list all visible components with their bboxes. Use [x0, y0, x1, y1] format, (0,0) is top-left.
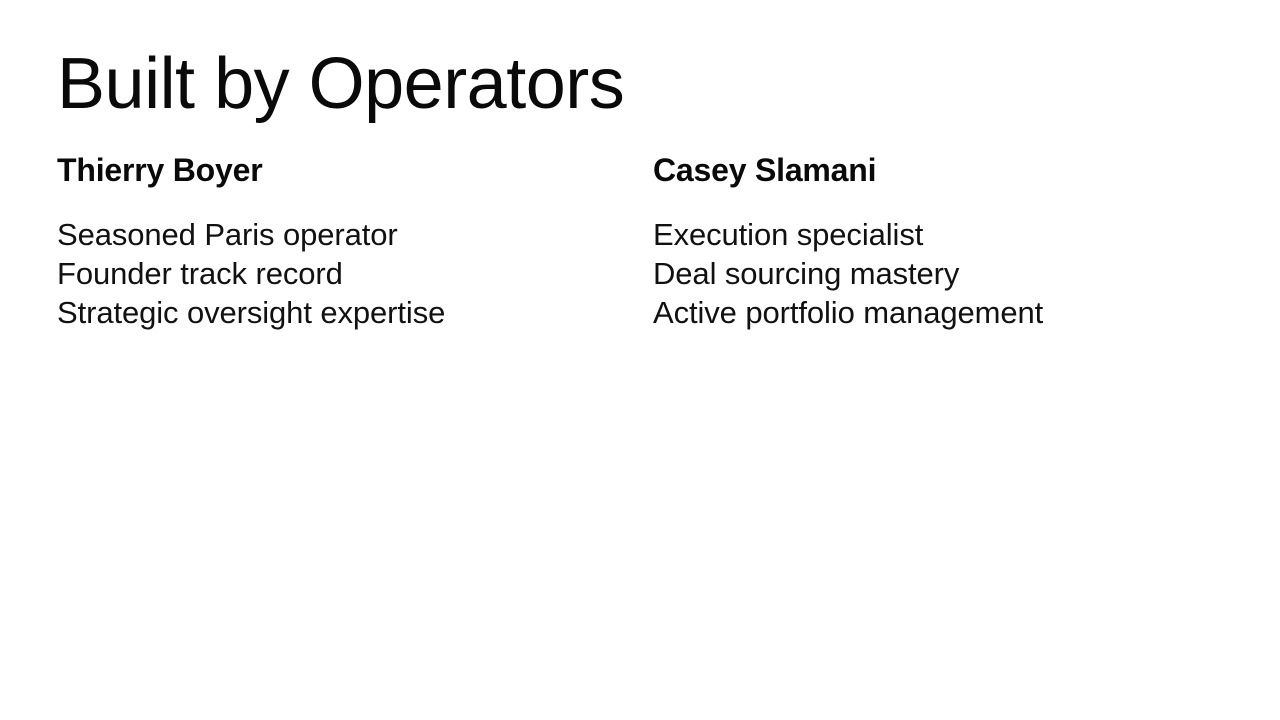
list-item: Strategic oversight expertise [57, 293, 653, 332]
person-name-heading: Casey Slamani [653, 152, 1249, 189]
list-item: Execution specialist [653, 215, 1249, 254]
list-item: Deal sourcing mastery [653, 254, 1249, 293]
person-name-heading: Thierry Boyer [57, 152, 653, 189]
profile-columns: Thierry Boyer Seasoned Paris operator Fo… [57, 152, 1237, 332]
presentation-slide: Built by Operators Thierry Boyer Seasone… [0, 0, 1280, 720]
profile-column-thierry-boyer: Thierry Boyer Seasoned Paris operator Fo… [57, 152, 653, 332]
person-highlights-list: Execution specialist Deal sourcing maste… [653, 215, 1249, 332]
list-item: Seasoned Paris operator [57, 215, 653, 254]
profile-column-casey-slamani: Casey Slamani Execution specialist Deal … [653, 152, 1249, 332]
person-highlights-list: Seasoned Paris operator Founder track re… [57, 215, 653, 332]
list-item: Active portfolio management [653, 293, 1249, 332]
page-title: Built by Operators [57, 48, 624, 120]
list-item: Founder track record [57, 254, 653, 293]
